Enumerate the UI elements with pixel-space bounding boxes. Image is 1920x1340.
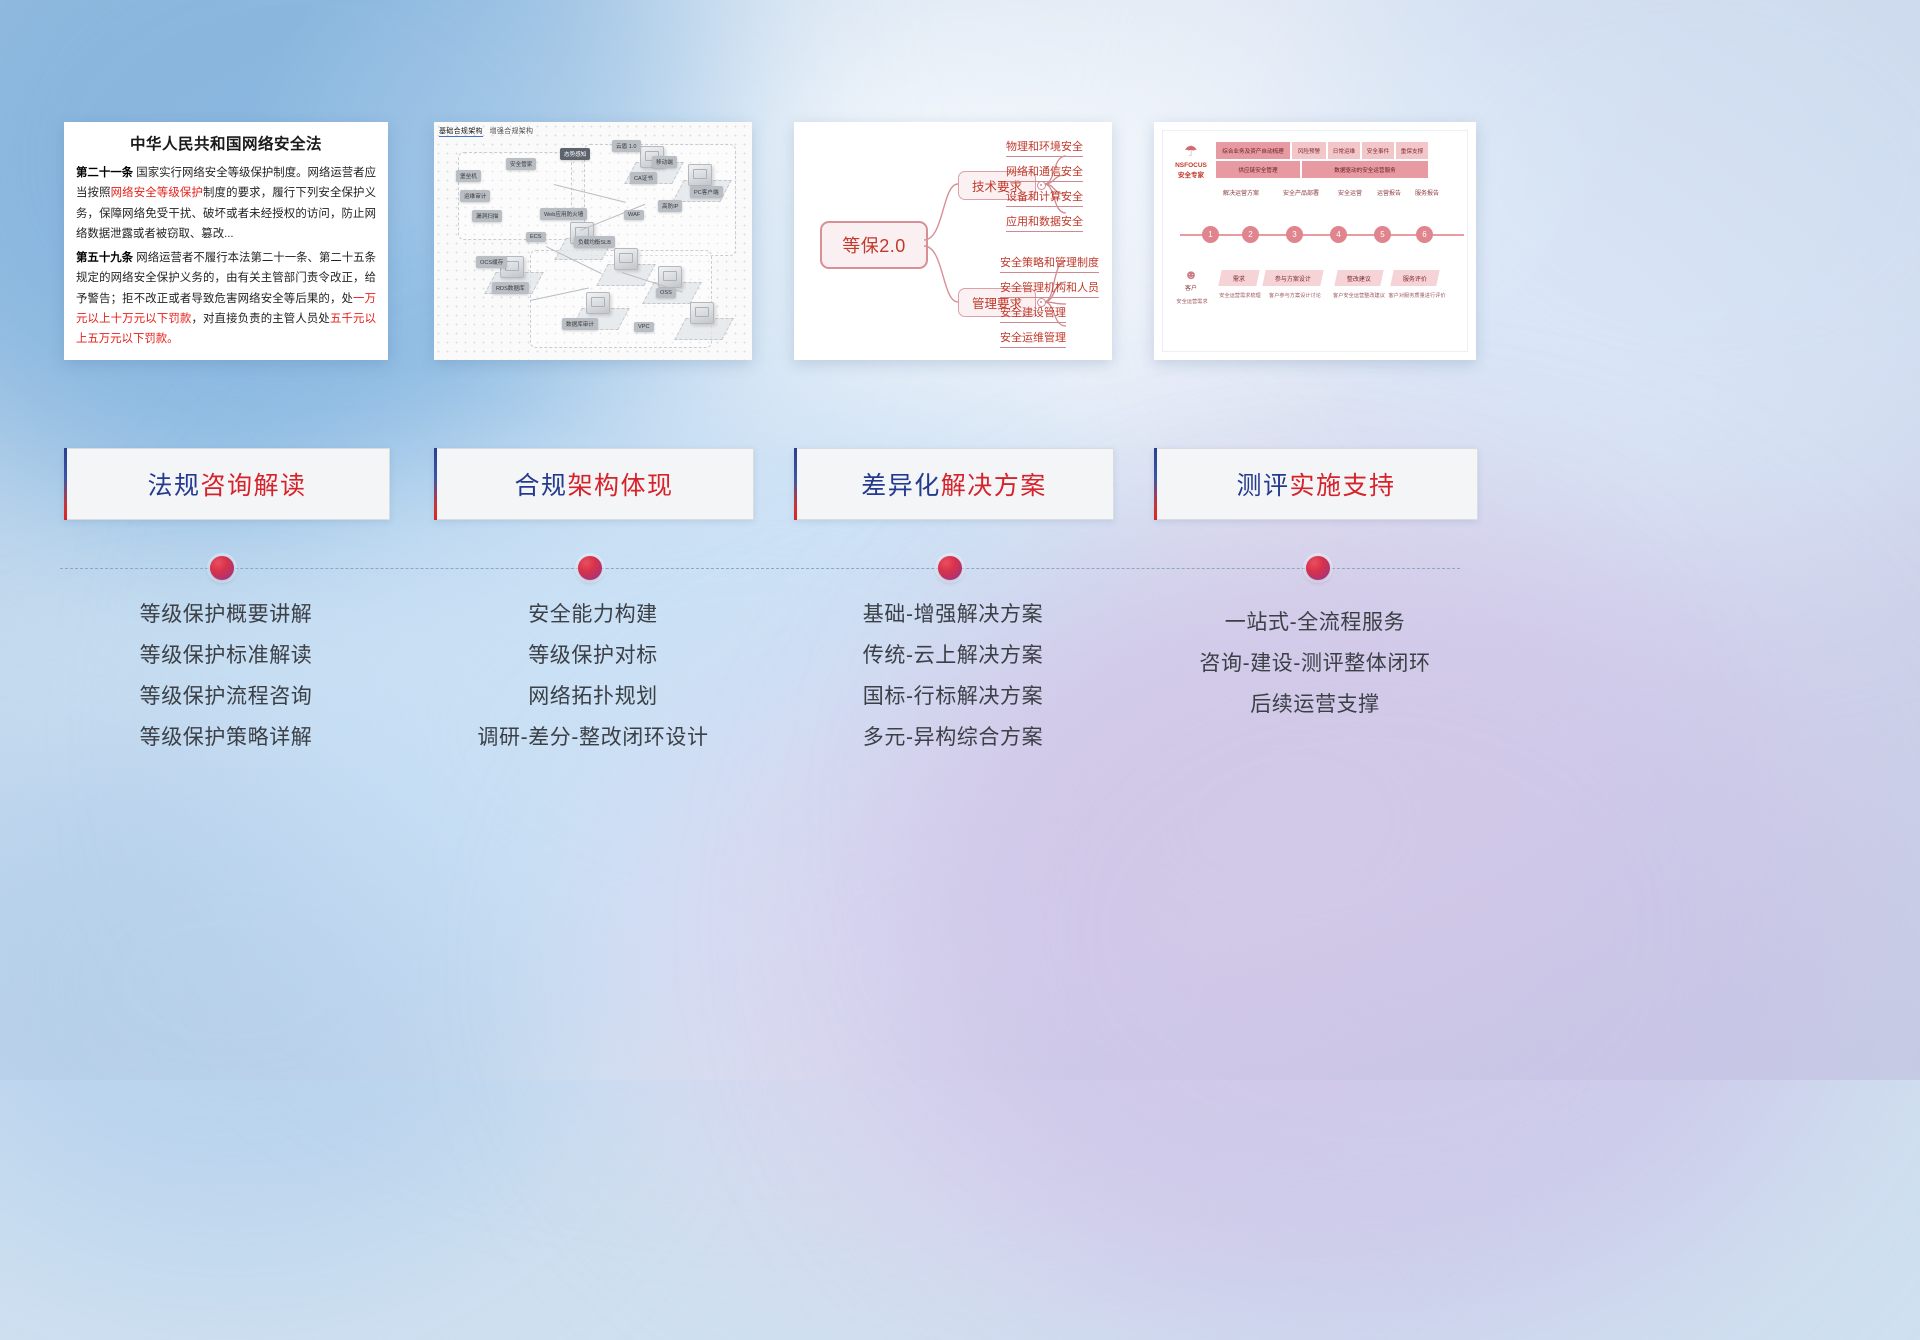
pillar-title-1-red: 咨询解读	[201, 472, 307, 500]
arch-node-gaofangip: 高防IP	[658, 200, 682, 212]
nsfocus-right-0: 整改建议	[1334, 270, 1383, 286]
law-article-21-highlight: 网络安全等级保护	[111, 187, 203, 199]
arch-node-yundun: 云盾 1.0	[612, 140, 641, 152]
nsfocus-customer: ☻ 客户	[1170, 268, 1212, 292]
mindmap-leaf-policy: 安全策略和管理制度	[1000, 254, 1099, 273]
list-item: 后续运营支撑	[1154, 694, 1476, 715]
arch-node-dbaudit: 数据库审计	[562, 318, 598, 330]
mindmap-leaf-device: 设备和计算安全	[1006, 188, 1083, 207]
list-item: 等级保护流程咨询	[64, 686, 388, 707]
nsfocus-timeline-node-1: 1	[1202, 226, 1219, 243]
nsfocus-mid-1: 参与方案设计	[1262, 270, 1323, 286]
arch-header-right: 增强合规架构	[490, 128, 534, 135]
list-item: 一站式-全流程服务	[1154, 612, 1476, 633]
list-item: 多元-异构综合方案	[794, 727, 1112, 748]
pillar-title-1-blue: 法规	[147, 472, 200, 500]
nsfocus-mid-0: 需求	[1218, 270, 1259, 286]
nsfocus-right-sub-0: 客户安全运营整改建议	[1328, 292, 1390, 299]
arch-cube-6	[586, 292, 610, 314]
arch-node-vpc: VPC	[634, 322, 654, 332]
pillar-title-3-blue: 差异化	[861, 472, 941, 500]
pillar-title-2-red: 架构体现	[568, 472, 674, 500]
list-item: 调研-差分-整改闭环设计	[434, 727, 752, 748]
nsfocus-phase-1: 安全产品部署	[1274, 188, 1328, 197]
nsfocus-brand-line1: NSFOCUS	[1168, 162, 1214, 169]
timeline-bead-2[interactable]	[578, 556, 602, 580]
arch-node-pc: PC客户端	[690, 186, 723, 198]
mindmap-leaf-application: 应用和数据安全	[1006, 213, 1083, 232]
nsfocus-ribbon-4: 重保支撑	[1396, 142, 1428, 159]
nsfocus-mid-sub-0: 安全运营需求梳理	[1212, 292, 1268, 299]
list-item: 传统-云上解决方案	[794, 645, 1112, 666]
list-item: 网络拓扑规划	[434, 686, 752, 707]
list-item: 等级保护对标	[434, 645, 752, 666]
arch-node-rds: RDS数据库	[492, 282, 529, 294]
nsfocus-timeline-node-3: 3	[1286, 226, 1303, 243]
arch-node-oss: OSS	[656, 288, 676, 298]
expert-person-icon: ☂	[1168, 144, 1214, 159]
nsfocus-ribbon-1: 风险预警	[1292, 142, 1326, 159]
list-item: 等级保护概要讲解	[64, 604, 388, 625]
arch-node-ocs: OCS缓存	[476, 256, 507, 268]
nsfocus-right-1: 服务评价	[1390, 270, 1439, 286]
mindmap-connectors	[794, 122, 1112, 360]
pillar-title-3-red: 解决方案	[941, 472, 1047, 500]
nsfocus-ribbon-5: 供应链安全管理	[1216, 161, 1300, 178]
nsfocus-ribbon-2: 日常运维	[1328, 142, 1360, 159]
law-article-21: 第二十一条 国家实行网络安全等级保护制度。网络运营者应当按照网络安全等级保护制度…	[76, 163, 376, 244]
list-item: 等级保护策略详解	[64, 727, 388, 748]
nsfocus-ribbon-0: 综合业务及资产自动梳理	[1216, 142, 1290, 159]
customer-person-icon: ☻	[1170, 268, 1212, 281]
arch-node-anquanguanjia: 安全管家	[506, 158, 536, 170]
list-item: 安全能力构建	[434, 604, 752, 625]
nsfocus-ribbon-6: 数据驱动的安全运营服务	[1302, 161, 1428, 178]
arch-node-slb: 负载均衡SLB	[574, 236, 615, 248]
mindmap-leaf-construction: 安全建设管理	[1000, 304, 1066, 323]
pillar-title-2[interactable]: 合规架构体现	[434, 448, 754, 520]
mindmap-leaf-org: 安全管理机构和人员	[1000, 279, 1099, 298]
card-mindmap-dengbao[interactable]: 等保2.0 技术要求 管理要求 物理和环境安全	[794, 122, 1112, 360]
nsfocus-phase-0: 解决运营方案	[1214, 188, 1268, 197]
list-item: 基础-增强解决方案	[794, 604, 1112, 625]
arch-node-baoleiji: 堡垒机	[456, 170, 481, 182]
pillar-list-3: 基础-增强解决方案 传统-云上解决方案 国标-行标解决方案 多元-异构综合方案	[794, 604, 1112, 768]
arch-node-web-firewall: Web应用防火墙	[540, 208, 587, 220]
pillar-list-2: 安全能力构建 等级保护对标 网络拓扑规划 调研-差分-整改闭环设计	[434, 604, 752, 768]
nsfocus-right-label-0: 整改建议	[1347, 274, 1371, 283]
nsfocus-customer-sub: 安全运营需求	[1164, 298, 1220, 305]
nsfocus-right-label-1: 服务评价	[1403, 274, 1427, 283]
list-item: 咨询-建设-测评整体闭环	[1154, 653, 1476, 674]
nsfocus-brand: ☂ NSFOCUS 安全专家	[1168, 144, 1214, 179]
nsfocus-timeline-node-2: 2	[1242, 226, 1259, 243]
card-compliance-architecture[interactable]: 基础合规架构 增强合规架构	[434, 122, 752, 360]
timeline-bead-4[interactable]	[1306, 556, 1330, 580]
arch-header: 基础合规架构 增强合规架构	[439, 126, 533, 136]
mindmap-leaf-network: 网络和通信安全	[1006, 163, 1083, 182]
list-item: 等级保护标准解读	[64, 645, 388, 666]
nsfocus-phase-2: 安全运营	[1330, 188, 1370, 197]
nsfocus-mid-sub-1: 客户参与方案设计讨论	[1264, 292, 1326, 299]
arch-cube-7	[690, 302, 714, 324]
pillar-list-1: 等级保护概要讲解 等级保护标准解读 等级保护流程咨询 等级保护策略详解	[64, 604, 388, 768]
law-article-21-label: 第二十一条	[76, 167, 133, 179]
nsfocus-mid-label-1: 参与方案设计	[1275, 274, 1311, 283]
arch-node-mobile: 移动端	[652, 156, 677, 168]
nsfocus-customer-label: 客户	[1170, 283, 1212, 292]
mindmap-leaf-physical: 物理和环境安全	[1006, 138, 1083, 157]
mindmap-leaf-operation: 安全运维管理	[1000, 329, 1066, 348]
arch-cube-4	[614, 248, 638, 270]
timeline-bead-1[interactable]	[210, 556, 234, 580]
pillar-list-4: 一站式-全流程服务 咨询-建设-测评整体闭环 后续运营支撑	[1154, 612, 1476, 735]
card-nsfocus-service[interactable]: ☂ NSFOCUS 安全专家 综合业务及资产自动梳理 风险预警 日常运维 安全事…	[1154, 122, 1476, 360]
pillar-title-4-red: 实施支持	[1290, 472, 1396, 500]
card-cybersecurity-law[interactable]: 中华人民共和国网络安全法 第二十一条 国家实行网络安全等级保护制度。网络运营者应…	[64, 122, 388, 360]
arch-cube-2	[688, 164, 712, 186]
law-article-59-label: 第五十九条	[76, 252, 133, 264]
nsfocus-right-sub-1: 客户对服务质量进行评价	[1386, 292, 1448, 299]
law-article-59: 第五十九条 网络运营者不履行本法第二十一条、第二十五条规定的网络安全保护义务的，…	[76, 248, 376, 349]
nsfocus-mid-label-0: 需求	[1233, 274, 1245, 283]
nsfocus-timeline-node-5: 5	[1374, 226, 1391, 243]
arch-header-left: 基础合规架构	[439, 128, 483, 137]
arch-node-ecs: ECS	[526, 232, 546, 242]
arch-node-yunweishenji: 运维审计	[460, 190, 490, 202]
nsfocus-timeline-node-4: 4	[1330, 226, 1347, 243]
timeline-bead-3[interactable]	[938, 556, 962, 580]
nsfocus-timeline-node-6: 6	[1416, 226, 1433, 243]
arch-node-ca: CA证书	[630, 172, 657, 184]
list-item: 国标-行标解决方案	[794, 686, 1112, 707]
pillar-title-2-blue: 合规	[514, 472, 567, 500]
illustration-card-row: 中华人民共和国网络安全法 第二十一条 国家实行网络安全等级保护制度。网络运营者应…	[0, 122, 1920, 366]
arch-node-loudongsaomiao: 漏洞扫描	[472, 210, 502, 222]
nsfocus-ribbon-3: 安全事件	[1362, 142, 1394, 159]
nsfocus-phase-4: 服务报告	[1410, 188, 1444, 197]
law-article-59-text-b: ，对直接负责的主管人员处	[191, 313, 330, 325]
pillar-title-3[interactable]: 差异化解决方案	[794, 448, 1114, 520]
nsfocus-brand-line2: 安全专家	[1168, 169, 1214, 179]
pillar-title-1[interactable]: 法规咨询解读	[64, 448, 390, 520]
timeline-rail	[60, 568, 1460, 569]
arch-node-waf: WAF	[624, 210, 644, 220]
pillar-title-4-blue: 测评	[1236, 472, 1289, 500]
arch-node-taishiganzhi: 态势感知	[560, 148, 590, 160]
pillar-title-4[interactable]: 测评实施支持	[1154, 448, 1478, 520]
law-title: 中华人民共和国网络安全法	[76, 132, 376, 154]
nsfocus-phase-3: 运营报告	[1372, 188, 1406, 197]
